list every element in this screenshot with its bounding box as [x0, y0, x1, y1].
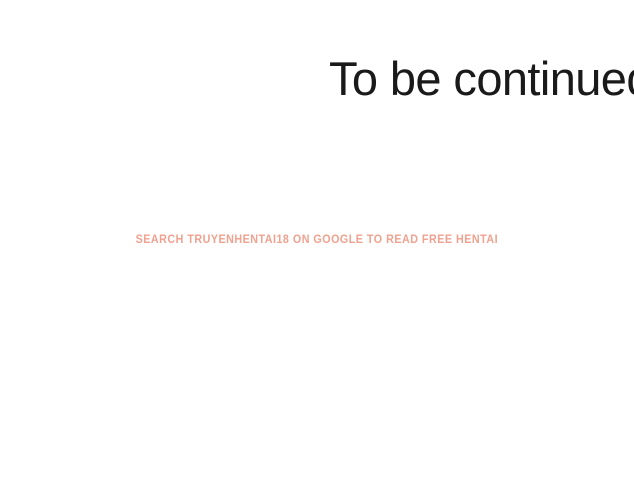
end-of-chapter-page: To be continued SEARCH TRUYENHENTAI18 ON… — [0, 0, 634, 478]
site-promo-watermark: SEARCH TRUYENHENTAI18 ON GOOGLE TO READ … — [136, 233, 498, 247]
watermark-row: SEARCH TRUYENHENTAI18 ON GOOGLE TO READ … — [0, 230, 634, 248]
to-be-continued-headline: To be continued — [329, 51, 634, 107]
